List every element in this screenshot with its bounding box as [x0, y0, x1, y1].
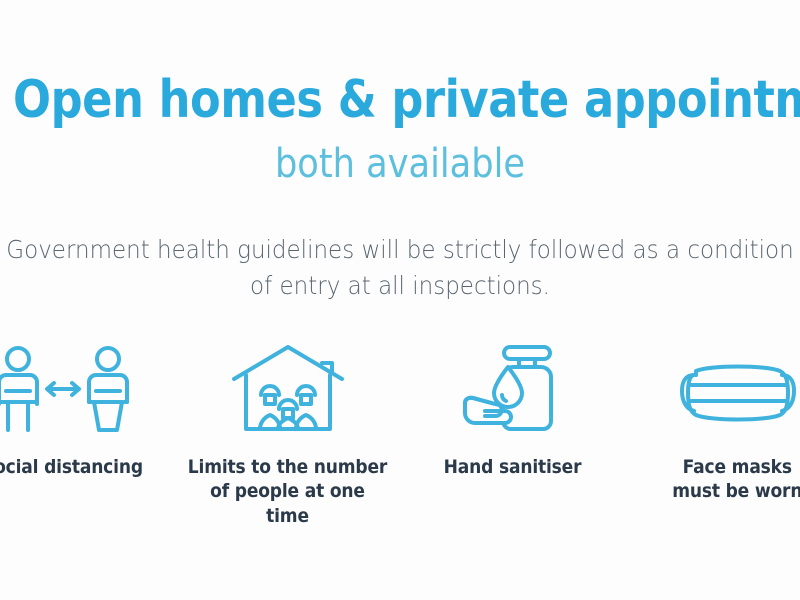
- guideline-caption: Limits to the number of people at one ti…: [186, 455, 389, 528]
- guideline-item-face-mask: Face masks must be worn: [625, 343, 800, 504]
- poster-banner: Open homes & private appointments both a…: [0, 0, 800, 600]
- guideline-caption: Social distancing: [0, 455, 143, 479]
- page-subtitle: both available: [4, 126, 796, 184]
- face-mask-icon: [674, 343, 800, 433]
- guideline-caption: Face masks must be worn: [672, 455, 800, 504]
- guideline-item-hand-sanitiser: Hand sanitiser: [400, 343, 625, 479]
- guidelines-row: Social distancing: [0, 303, 800, 528]
- page-title: Open homes & private appointments: [13, 0, 787, 126]
- hand-sanitiser-icon: [461, 343, 565, 433]
- poster-canvas: Open homes & private appointments both a…: [0, 0, 800, 600]
- guideline-caption: Hand sanitiser: [444, 455, 582, 479]
- body-text: Government health guidelines will be str…: [4, 184, 795, 303]
- social-distancing-icon: [0, 343, 138, 433]
- house-people-limit-icon: [230, 343, 346, 433]
- guideline-item-social-distancing: Social distancing: [0, 343, 175, 479]
- guideline-item-people-limit: Limits to the number of people at one ti…: [175, 343, 400, 528]
